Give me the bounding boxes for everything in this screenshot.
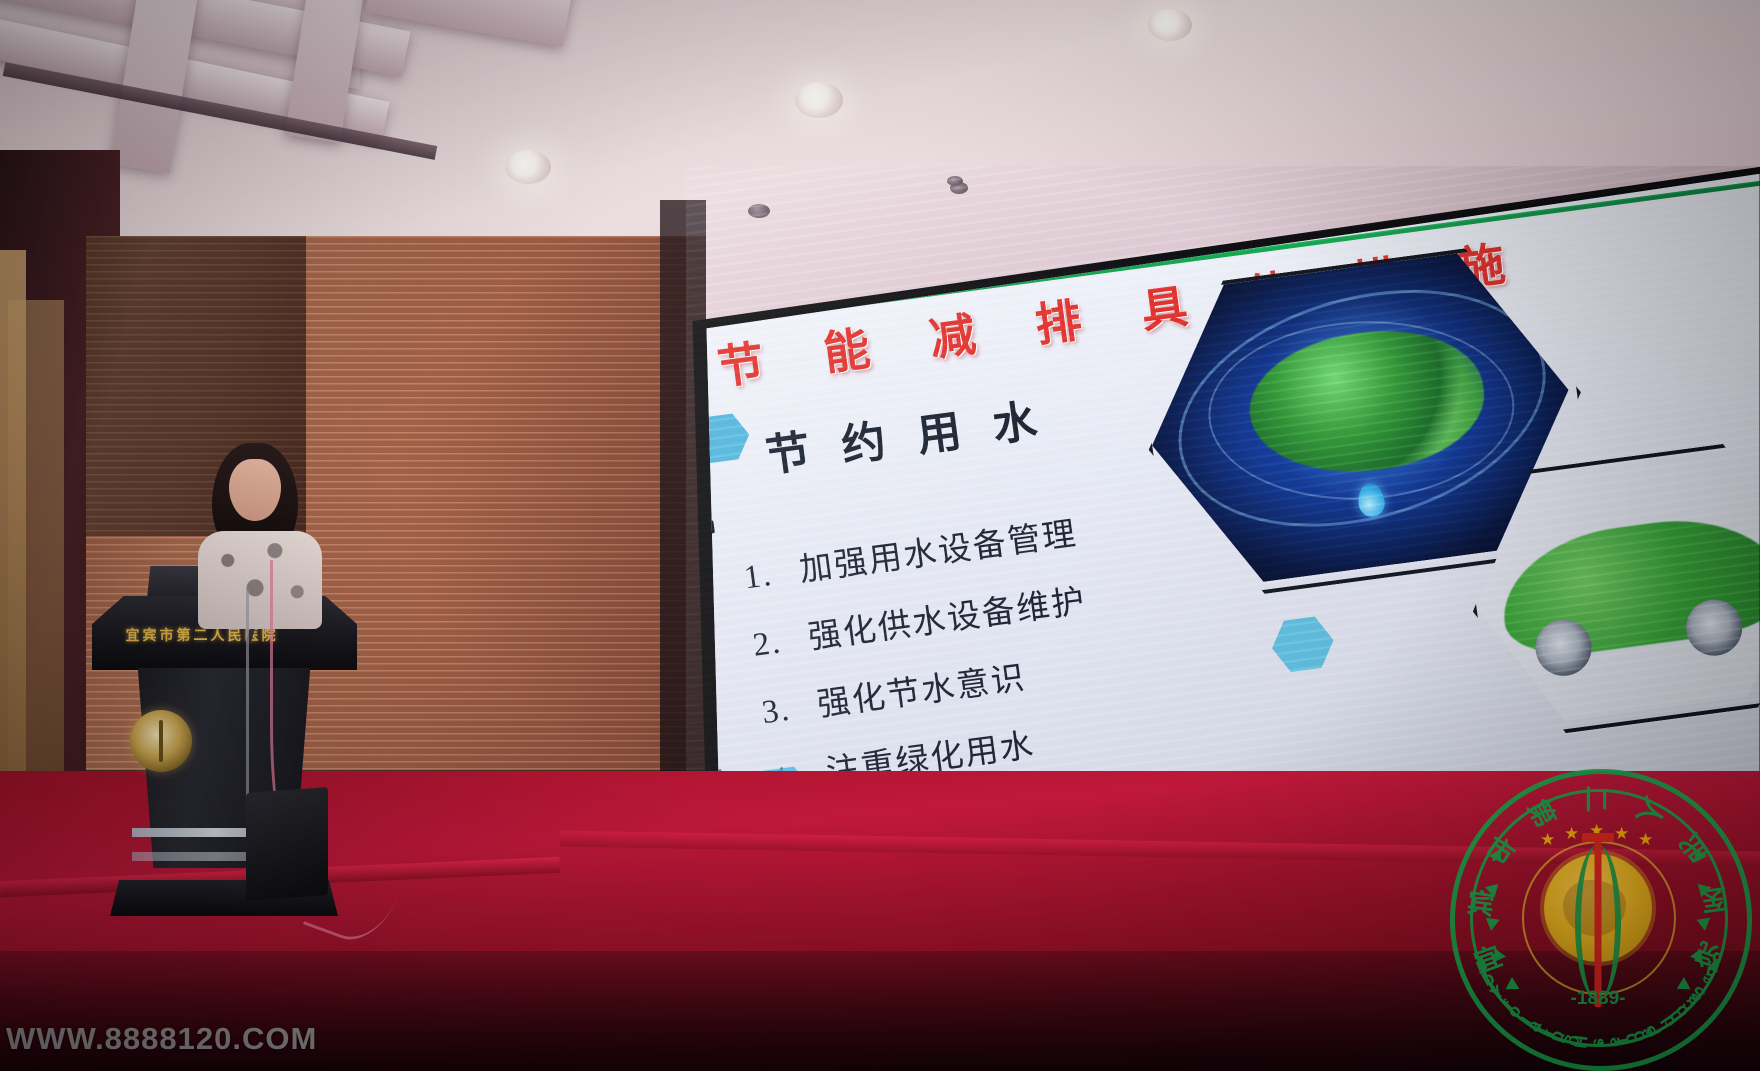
led-screen: 2020年节能减排联络 宜宾市第二人民医院 · 四川大学华西医院宜宾医院 节 能… — [686, 166, 1760, 826]
podium-emblem-icon — [130, 710, 192, 772]
led-screen-content: 2020年节能减排联络 宜宾市第二人民医院 · 四川大学华西医院宜宾医院 节 能… — [686, 166, 1760, 826]
laurel-leaf-icon — [1493, 948, 1506, 963]
led-screen-panel: 2020年节能减排联络 宜宾市第二人民医院 · 四川大学华西医院宜宾医院 节 能… — [686, 166, 1760, 826]
seal-star-icon: ★ — [1638, 830, 1653, 850]
list-item-text: 强化供水设备维护 — [806, 582, 1088, 656]
list-item-number: 2. — [751, 624, 784, 663]
list-item-text: 加强用水设备管理 — [797, 514, 1079, 588]
list-item-number: 3. — [760, 692, 793, 731]
hexagon-bullet-icon-2 — [1269, 613, 1338, 675]
presentation-slide: 宜宾市第二人民医院 · 四川大学华西医院宜宾医院 节 能 减 排 具 体 措 施… — [686, 166, 1760, 826]
floor-monitor-speaker — [246, 787, 328, 901]
site-watermark: WWW.8888120.COM — [6, 1021, 317, 1057]
slide-section-heading: 节 约 用 水 — [762, 383, 1051, 484]
list-item-text: 强化节水意识 — [815, 658, 1028, 722]
seal-star-icon: ★ — [1564, 824, 1579, 844]
seal-star-icon: ★ — [1540, 830, 1555, 850]
seal-star-icon: ★ — [1614, 824, 1629, 844]
asclepius-snake-icon — [1575, 845, 1621, 1001]
downlight-3 — [1148, 9, 1192, 41]
downlight-2 — [795, 82, 843, 118]
list-item-number: 1. — [742, 557, 775, 596]
seal-arc-char: n — [1472, 952, 1490, 976]
downlight-1 — [505, 150, 551, 184]
asclepius-rod-top-icon — [1582, 833, 1614, 842]
seal-founding-year: -1889- — [1571, 988, 1626, 1010]
laurel-leaf-icon — [1689, 948, 1702, 963]
conference-photo: 2020年节能减排联络 宜宾市第二人民医院 · 四川大学华西医院宜宾医院 节 能… — [0, 0, 1760, 1071]
hospital-seal-watermark: 宜宾市第二人民医院 The Second People's Hospital o… — [1448, 767, 1748, 1067]
